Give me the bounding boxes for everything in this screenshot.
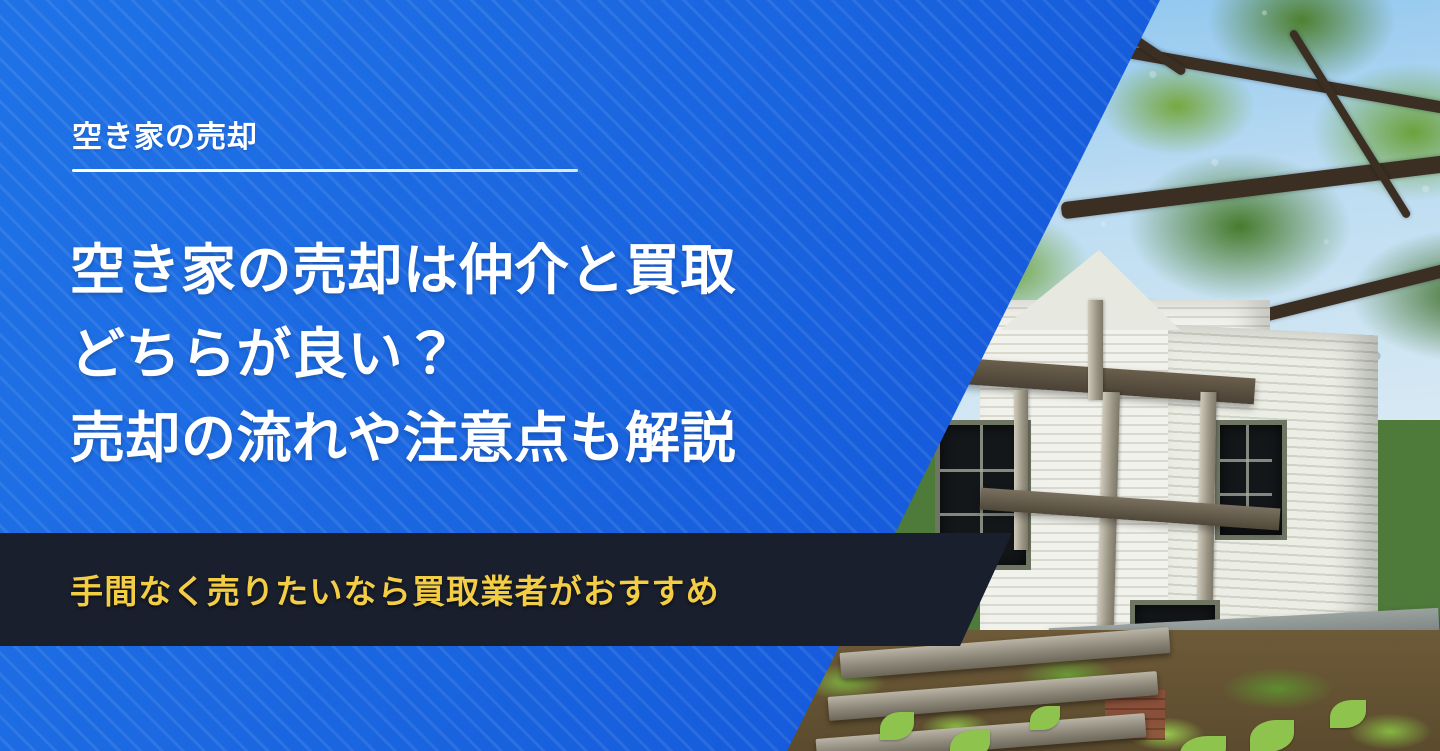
page-title: 空き家の売却は仲介と買取 どちらが良い？ 売却の流れや注意点も解説 xyxy=(70,228,930,480)
headline-line-3: 売却の流れや注意点も解説 xyxy=(70,396,930,480)
headline-line-1: 空き家の売却は仲介と買取 xyxy=(70,228,930,312)
hero-banner: 空き家の売却 空き家の売却は仲介と買取 どちらが良い？ 売却の流れや注意点も解説… xyxy=(0,0,1440,751)
headline-line-2: どちらが良い？ xyxy=(70,312,930,396)
eyebrow-label: 空き家の売却 xyxy=(72,112,258,156)
eyebrow-divider xyxy=(72,169,578,172)
porch-post xyxy=(1088,300,1103,400)
ribbon-subtitle: 手間なく売りたいなら買取業者がおすすめ xyxy=(70,565,720,613)
porch-post xyxy=(1014,390,1028,550)
